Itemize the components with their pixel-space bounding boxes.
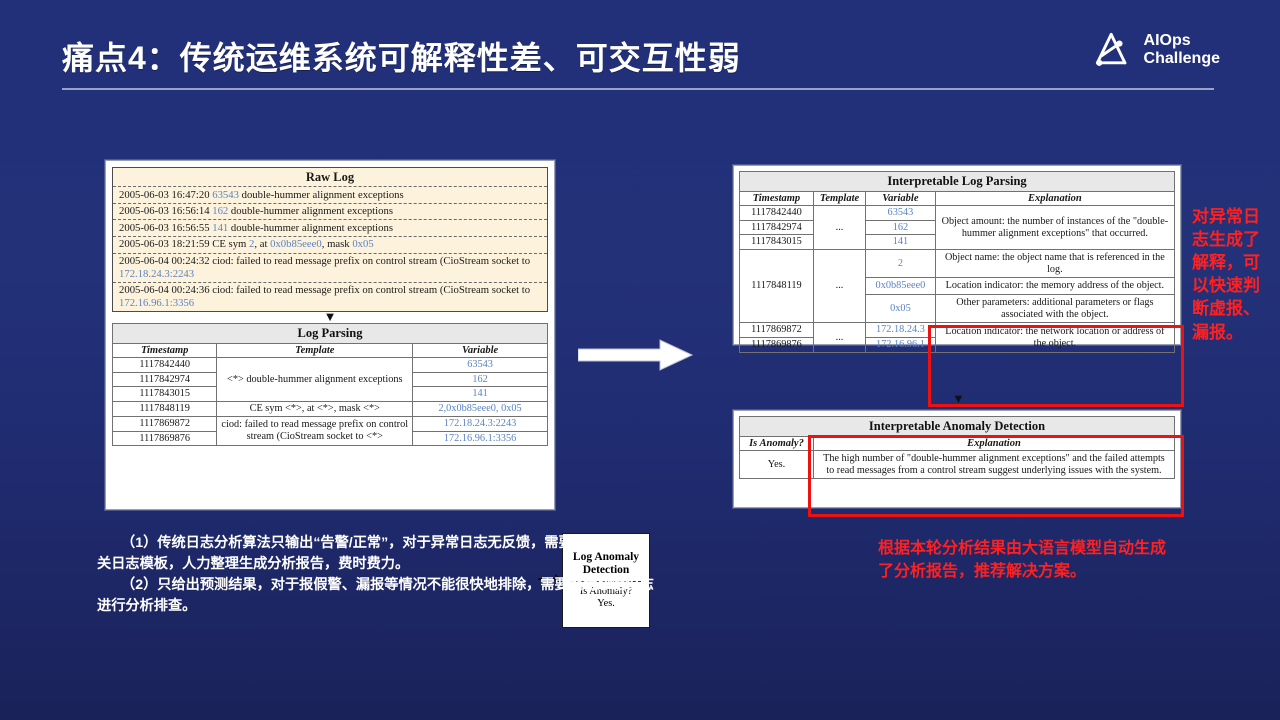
cell-timestamp: 1117842974 xyxy=(113,372,217,387)
table-row: 1117848119 ... 2 Object name: the object… xyxy=(740,250,1175,278)
col-variable: Variable xyxy=(866,192,936,206)
table-row: 1117869872 ciod: failed to read message … xyxy=(113,416,548,431)
cell-variable: 0x0b85eee0 xyxy=(866,278,936,295)
cell-template: ciod: failed to read message prefix on c… xyxy=(217,416,413,445)
cell-variable: 2,0x0b85eee0, 0x05 xyxy=(413,402,548,417)
col-is-anomaly: Is Anomaly? xyxy=(740,437,814,451)
cell-timestamp: 1117869872 xyxy=(113,416,217,431)
aiops-logo-icon xyxy=(1091,28,1135,72)
left-note-2: （2）只给出预测结果，对于报假警、漏报等情况不能很快地排除，需要结合原始日志进行… xyxy=(97,575,657,617)
col-variable: Variable xyxy=(413,344,548,358)
cell-timestamp: 1117869872 xyxy=(740,323,814,338)
raw-log-row: 2005-06-04 00:24:36 ciod: failed to read… xyxy=(113,282,547,311)
cell-timestamp: 1117842974 xyxy=(740,220,814,235)
raw-log-variable: 141 xyxy=(212,222,228,234)
page-title: 痛点4：传统运维系统可解释性差、可交互性弱 xyxy=(62,33,741,79)
aiops-challenge-logo: AIOps Challenge xyxy=(1091,28,1220,72)
cell-variable: 0x05 xyxy=(866,295,936,323)
cell-timestamp: 1117848119 xyxy=(740,250,814,323)
log-parsing-table: Timestamp Template Variable 1117842440 <… xyxy=(112,343,548,446)
cell-variable: 162 xyxy=(866,220,936,235)
right-vertical-annotation: 对异常日志生成了解释，可以快速判断虚报、漏报。 xyxy=(1192,205,1264,344)
cell-timestamp: 1117869876 xyxy=(113,431,217,446)
right-bottom-annotation: 根据本轮分析结果由大语言模型自动生成了分析报告，推荐解决方案。 xyxy=(878,538,1178,583)
cell-variable: 63543 xyxy=(413,358,548,373)
cell-explanation: Other parameters: additional parameters … xyxy=(935,295,1174,323)
table-row: 1117848119 CE sym <*>, at <*>, mask <*> … xyxy=(113,402,548,417)
table-row: 1117842440 <*> double-hummer alignment e… xyxy=(113,358,548,373)
raw-log-suffix: double-hummer alignment exceptions xyxy=(228,222,393,234)
cell-is-anomaly: Yes. xyxy=(740,451,814,479)
raw-log-suffix: double-hummer alignment exceptions xyxy=(239,189,404,201)
raw-log-row: 2005-06-03 18:21:59 CE sym 2, at 0x0b85e… xyxy=(113,236,547,253)
interpretable-log-parsing-panel: Interpretable Log Parsing Timestamp Temp… xyxy=(733,165,1181,345)
cell-variable: 172.18.24.3 xyxy=(866,323,936,338)
left-annotation-notes: （1）传统日志分析算法只输出“告警/正常”，对于异常日志无反馈，需要专家阅读相关… xyxy=(97,533,657,617)
cell-variable: 172.18.24.3:2243 xyxy=(413,416,548,431)
cell-variable: 63543 xyxy=(866,206,936,221)
col-explanation: Explanation xyxy=(935,192,1174,206)
raw-log-prefix: 2005-06-03 16:56:55 xyxy=(119,222,212,234)
raw-log-prefix: 2005-06-04 00:24:32 ciod: failed to read… xyxy=(119,255,530,267)
cell-variable: 141 xyxy=(413,387,548,402)
col-timestamp: Timestamp xyxy=(740,192,814,206)
logo-wordmark: AIOps Challenge xyxy=(1144,32,1220,68)
table-header-row: Timestamp Template Variable Explanation xyxy=(740,192,1175,206)
cell-variable: 172.16.96.1:3356 xyxy=(413,431,548,446)
raw-log-suffix: double-hummer alignment exceptions xyxy=(228,205,393,217)
cell-timestamp: 1117843015 xyxy=(113,387,217,402)
cell-template: ... xyxy=(813,250,865,323)
left-figure-panel: Raw Log 2005-06-03 16:47:20 63543 double… xyxy=(105,160,555,510)
cell-template: <*> double-hummer alignment exceptions xyxy=(217,358,413,402)
raw-log-row: 2005-06-03 16:47:20 63543 double-hummer … xyxy=(113,186,547,203)
raw-log-mid2: , mask xyxy=(322,238,353,250)
raw-log-row: 2005-06-04 00:24:32 ciod: failed to read… xyxy=(113,253,547,282)
logo-line-1: AIOps xyxy=(1144,32,1191,49)
cell-timestamp: 1117843015 xyxy=(740,235,814,250)
raw-log-prefix: 2005-06-04 00:24:36 ciod: failed to read… xyxy=(119,284,530,296)
raw-log-prefix: 2005-06-03 18:21:59 CE sym xyxy=(119,238,249,250)
raw-log-variable: 63543 xyxy=(212,189,239,201)
left-note-1: （1）传统日志分析算法只输出“告警/正常”，对于异常日志无反馈，需要专家阅读相关… xyxy=(97,533,657,575)
col-timestamp: Timestamp xyxy=(113,344,217,358)
cell-timestamp: 1117842440 xyxy=(113,358,217,373)
cell-explanation: Location indicator: the memory address o… xyxy=(935,278,1174,295)
cell-timestamp: 1117869876 xyxy=(740,338,814,353)
cell-template: ... xyxy=(813,323,865,352)
cell-variable: 162 xyxy=(413,372,548,387)
slide-canvas: 痛点4：传统运维系统可解释性差、可交互性弱 AIOps Challenge Ra xyxy=(0,0,1280,720)
col-template: Template xyxy=(813,192,865,206)
cell-variable: 172.16.96.1 xyxy=(866,338,936,353)
raw-log-variable: 172.18.24.3:2243 xyxy=(119,268,194,280)
cell-timestamp: 1117848119 xyxy=(113,402,217,417)
cell-explanation: Object amount: the number of instances o… xyxy=(935,206,1174,250)
table-header-row: Timestamp Template Variable xyxy=(113,344,548,358)
cell-template: ... xyxy=(813,206,865,250)
cell-template: CE sym <*>, at <*>, mask <*> xyxy=(217,402,413,417)
log-parsing-caption: Log Parsing xyxy=(112,323,548,343)
interpretable-parsing-caption: Interpretable Log Parsing xyxy=(739,171,1175,191)
highlight-box-explanations xyxy=(928,325,1184,407)
header-divider xyxy=(62,88,1214,90)
raw-log-mid: , at xyxy=(254,238,270,250)
raw-log-box: Raw Log 2005-06-03 16:47:20 63543 double… xyxy=(112,167,548,312)
cell-variable: 2 xyxy=(866,250,936,278)
transition-arrow-icon xyxy=(578,338,693,372)
col-template: Template xyxy=(217,344,413,358)
raw-log-row: 2005-06-03 16:56:55 141 double-hummer al… xyxy=(113,219,547,236)
cell-variable: 141 xyxy=(866,235,936,250)
interpretable-anomaly-caption: Interpretable Anomaly Detection xyxy=(739,416,1175,436)
raw-log-prefix: 2005-06-03 16:56:14 xyxy=(119,205,212,217)
highlight-box-anomaly-explanation xyxy=(808,435,1184,517)
raw-log-variable: 162 xyxy=(212,205,228,217)
cell-explanation: Object name: the object name that is ref… xyxy=(935,250,1174,278)
flow-arrow-down-icon: ▼ xyxy=(112,312,548,323)
raw-log-variable: 172.16.96.1:3356 xyxy=(119,297,194,309)
raw-log-variable: 0x05 xyxy=(352,238,373,250)
raw-log-caption: Raw Log xyxy=(113,168,547,186)
logo-line-2: Challenge xyxy=(1144,50,1220,67)
table-row: 1117842440 ... 63543 Object amount: the … xyxy=(740,206,1175,221)
cell-timestamp: 1117842440 xyxy=(740,206,814,221)
raw-log-variable: 0x0b85eee0 xyxy=(270,238,322,250)
raw-log-prefix: 2005-06-03 16:47:20 xyxy=(119,189,212,201)
raw-log-row: 2005-06-03 16:56:14 162 double-hummer al… xyxy=(113,203,547,220)
